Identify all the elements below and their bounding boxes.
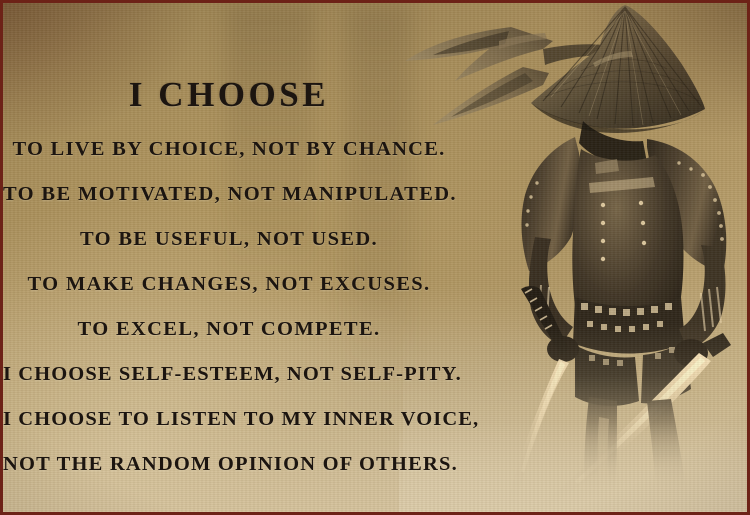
quote-line: TO MAKE CHANGES, NOT EXCUSES.: [3, 262, 455, 307]
quote-line: TO BE MOTIVATED, NOT MANIPULATED.: [3, 172, 455, 217]
quote-line: TO BE USEFUL, NOT USED.: [3, 217, 455, 262]
motivational-poster: I CHOOSE TO LIVE BY CHOICE, NOT BY CHANC…: [0, 0, 750, 515]
quote-line: I CHOOSE SELF-ESTEEM, NOT SELF-PITY.: [3, 352, 455, 397]
quote-line: I CHOOSE TO LISTEN TO MY INNER VOICE,: [3, 397, 455, 442]
quote-lines: TO LIVE BY CHOICE, NOT BY CHANCE. TO BE …: [3, 127, 455, 487]
quote-line: TO EXCEL, NOT COMPETE.: [3, 307, 455, 352]
poster-title: I CHOOSE: [3, 75, 455, 115]
quote-line: TO LIVE BY CHOICE, NOT BY CHANCE.: [3, 127, 455, 172]
quote-line: NOT THE RANDOM OPINION OF OTHERS.: [3, 442, 455, 487]
